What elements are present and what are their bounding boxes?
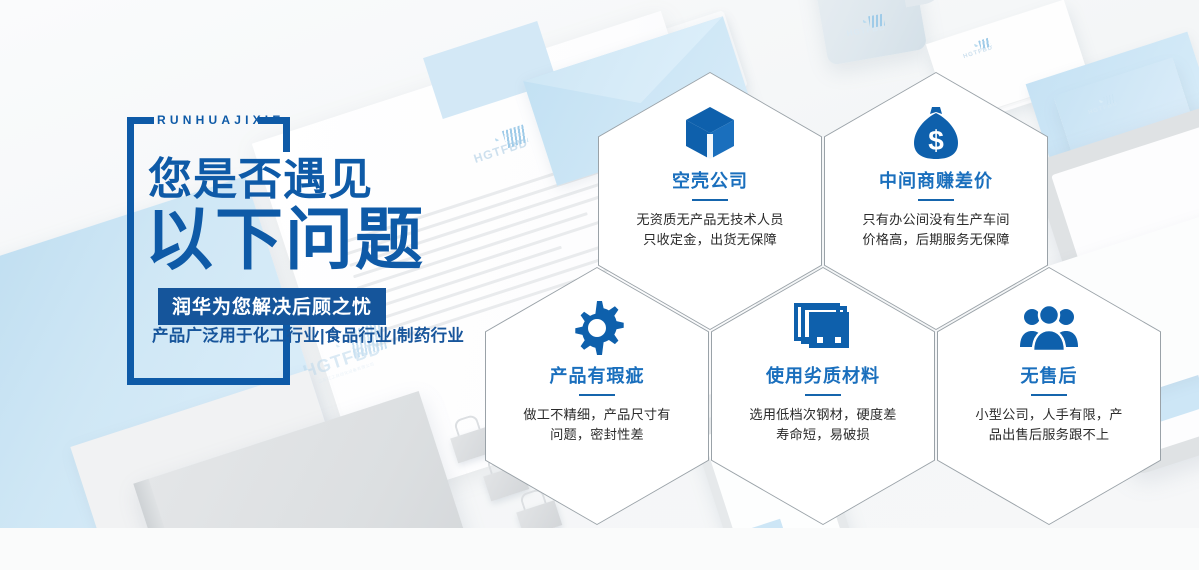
hex-divider: [918, 199, 954, 201]
hex-desc-line: 只有办公间没有生产车间: [847, 210, 1025, 230]
promo-banner: HGTFBD HGTFBD: [0, 0, 1199, 570]
hex-description: 小型公司，人手有限，产 品出售后服务跟不上: [960, 405, 1138, 446]
hex-title: 无售后: [1021, 362, 1078, 388]
hex-divider: [1031, 394, 1067, 396]
hex-title: 空壳公司: [672, 167, 748, 193]
hex-description: 做工不精细，产品尺寸有 问题，密封性差: [508, 405, 686, 446]
hex-description: 只有办公间没有生产车间 价格高，后期服务无保障: [847, 210, 1025, 251]
layers-icon: [794, 300, 852, 356]
svg-text:$: $: [928, 125, 944, 156]
hex-description: 无资质无产品无技术人员 只收定金，出货无保障: [621, 210, 799, 251]
hex-desc-line: 只收定金，出货无保障: [621, 230, 799, 250]
hex-desc-line: 小型公司，人手有限，产: [960, 405, 1138, 425]
hex-divider: [692, 199, 728, 201]
hex-description: 选用低档次钢材，硬度差 寿命短，易破损: [734, 405, 912, 446]
hex-desc-line: 品出售后服务跟不上: [960, 425, 1138, 445]
hex-card-defective-product[interactable]: 产品有瑕疵 做工不精细，产品尺寸有 问题，密封性差: [485, 267, 709, 525]
money-bag-icon: $: [910, 105, 962, 161]
hex-face: 产品有瑕疵 做工不精细，产品尺寸有 问题，密封性差: [486, 268, 708, 524]
hex-card-no-after-sales[interactable]: 无售后 小型公司，人手有限，产 品出售后服务跟不上: [937, 267, 1161, 525]
hex-desc-line: 寿命短，易破损: [734, 425, 912, 445]
hex-desc-line: 问题，密封性差: [508, 425, 686, 445]
hex-divider: [805, 394, 841, 396]
hex-title: 中间商赚差价: [879, 167, 993, 193]
hex-title: 使用劣质材料: [766, 362, 880, 388]
hex-divider: [579, 394, 615, 396]
hex-desc-line: 做工不精细，产品尺寸有: [508, 405, 686, 425]
feature-hex-grid: 空壳公司 无资质无产品无技术人员 只收定金，出货无保障 $: [0, 0, 1199, 570]
hex-card-inferior-material[interactable]: 使用劣质材料 选用低档次钢材，硬度差 寿命短，易破损: [711, 267, 935, 525]
hex-desc-line: 价格高，后期服务无保障: [847, 230, 1025, 250]
hex-face: 使用劣质材料 选用低档次钢材，硬度差 寿命短，易破损: [712, 268, 934, 524]
users-icon: [1019, 300, 1079, 356]
hex-face: 无售后 小型公司，人手有限，产 品出售后服务跟不上: [938, 268, 1160, 524]
hex-title: 产品有瑕疵: [550, 362, 645, 388]
gear-icon: [570, 300, 624, 356]
hex-desc-line: 无资质无产品无技术人员: [621, 210, 799, 230]
cube-icon: [684, 105, 736, 161]
hex-desc-line: 选用低档次钢材，硬度差: [734, 405, 912, 425]
